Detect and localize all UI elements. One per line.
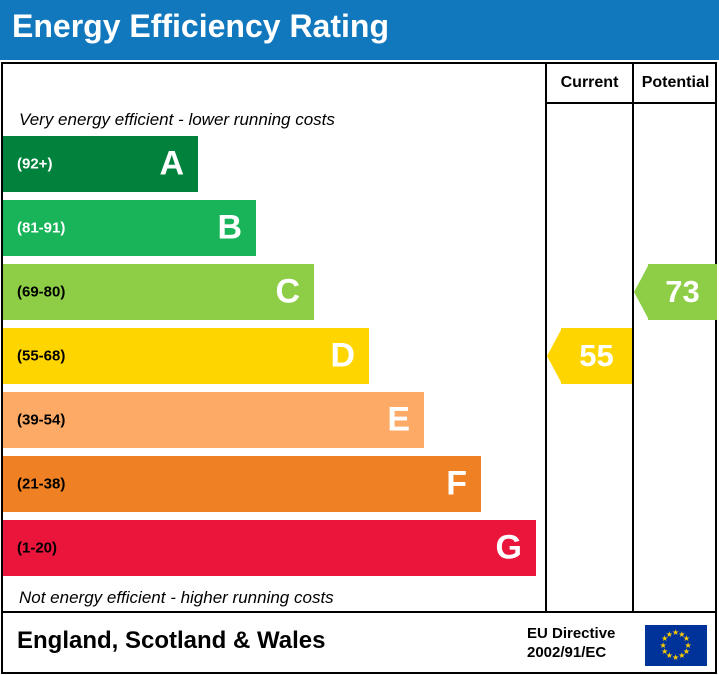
band-b-letter: B bbox=[217, 210, 242, 244]
band-d-range: (55-68) bbox=[17, 348, 65, 365]
column-separator-potential bbox=[632, 64, 634, 611]
current-rating-value: 55 bbox=[565, 338, 613, 374]
band-c: (69-80) C bbox=[3, 264, 314, 320]
current-marker-arrow-icon bbox=[547, 328, 562, 384]
footer-region-label: England, Scotland & Wales bbox=[17, 627, 325, 655]
band-g-letter: G bbox=[496, 530, 522, 564]
band-e-range: (39-54) bbox=[17, 412, 65, 429]
potential-rating-marker: 73 bbox=[634, 264, 717, 320]
directive-line-1: EU Directive bbox=[527, 624, 615, 643]
band-b-range: (81-91) bbox=[17, 220, 65, 237]
band-c-range: (69-80) bbox=[17, 284, 65, 301]
footer-directive: EU Directive 2002/91/EC bbox=[527, 624, 615, 662]
eu-star-icon: ★ bbox=[672, 654, 679, 662]
footer: England, Scotland & Wales EU Directive 2… bbox=[1, 613, 717, 674]
caption-bottom: Not energy efficient - higher running co… bbox=[19, 588, 334, 608]
band-a-range: (92+) bbox=[17, 156, 52, 173]
caption-top: Very energy efficient - lower running co… bbox=[19, 110, 335, 130]
rating-chart: Current Potential Very energy efficient … bbox=[1, 62, 717, 613]
eu-star-icon: ★ bbox=[678, 652, 685, 660]
directive-line-2: 2002/91/EC bbox=[527, 643, 615, 662]
band-a: (92+) A bbox=[3, 136, 198, 192]
band-e: (39-54) E bbox=[3, 392, 424, 448]
column-header-current: Current bbox=[547, 74, 632, 92]
band-c-letter: C bbox=[275, 274, 300, 308]
column-header-potential: Potential bbox=[634, 74, 717, 92]
potential-marker-arrow-icon bbox=[634, 264, 649, 320]
band-g: (1-20) G bbox=[3, 520, 536, 576]
eu-flag-icon: ★★★★★★★★★★★★ bbox=[645, 625, 707, 666]
column-header-separator bbox=[545, 102, 717, 104]
band-f: (21-38) F bbox=[3, 456, 481, 512]
current-rating-marker: 55 bbox=[547, 328, 632, 384]
epc-certificate: Energy Efficiency Rating Current Potenti… bbox=[0, 0, 719, 675]
page-title: Energy Efficiency Rating bbox=[12, 8, 389, 45]
eu-star-icon: ★ bbox=[666, 631, 673, 639]
title-bar: Energy Efficiency Rating bbox=[0, 0, 719, 60]
band-g-range: (1-20) bbox=[17, 540, 57, 557]
band-b: (81-91) B bbox=[3, 200, 256, 256]
band-f-letter: F bbox=[446, 466, 467, 500]
band-a-letter: A bbox=[159, 146, 184, 180]
band-e-letter: E bbox=[387, 402, 410, 436]
band-d-letter: D bbox=[330, 338, 355, 372]
band-d: (55-68) D bbox=[3, 328, 369, 384]
band-f-range: (21-38) bbox=[17, 476, 65, 493]
potential-rating-value: 73 bbox=[651, 274, 699, 310]
